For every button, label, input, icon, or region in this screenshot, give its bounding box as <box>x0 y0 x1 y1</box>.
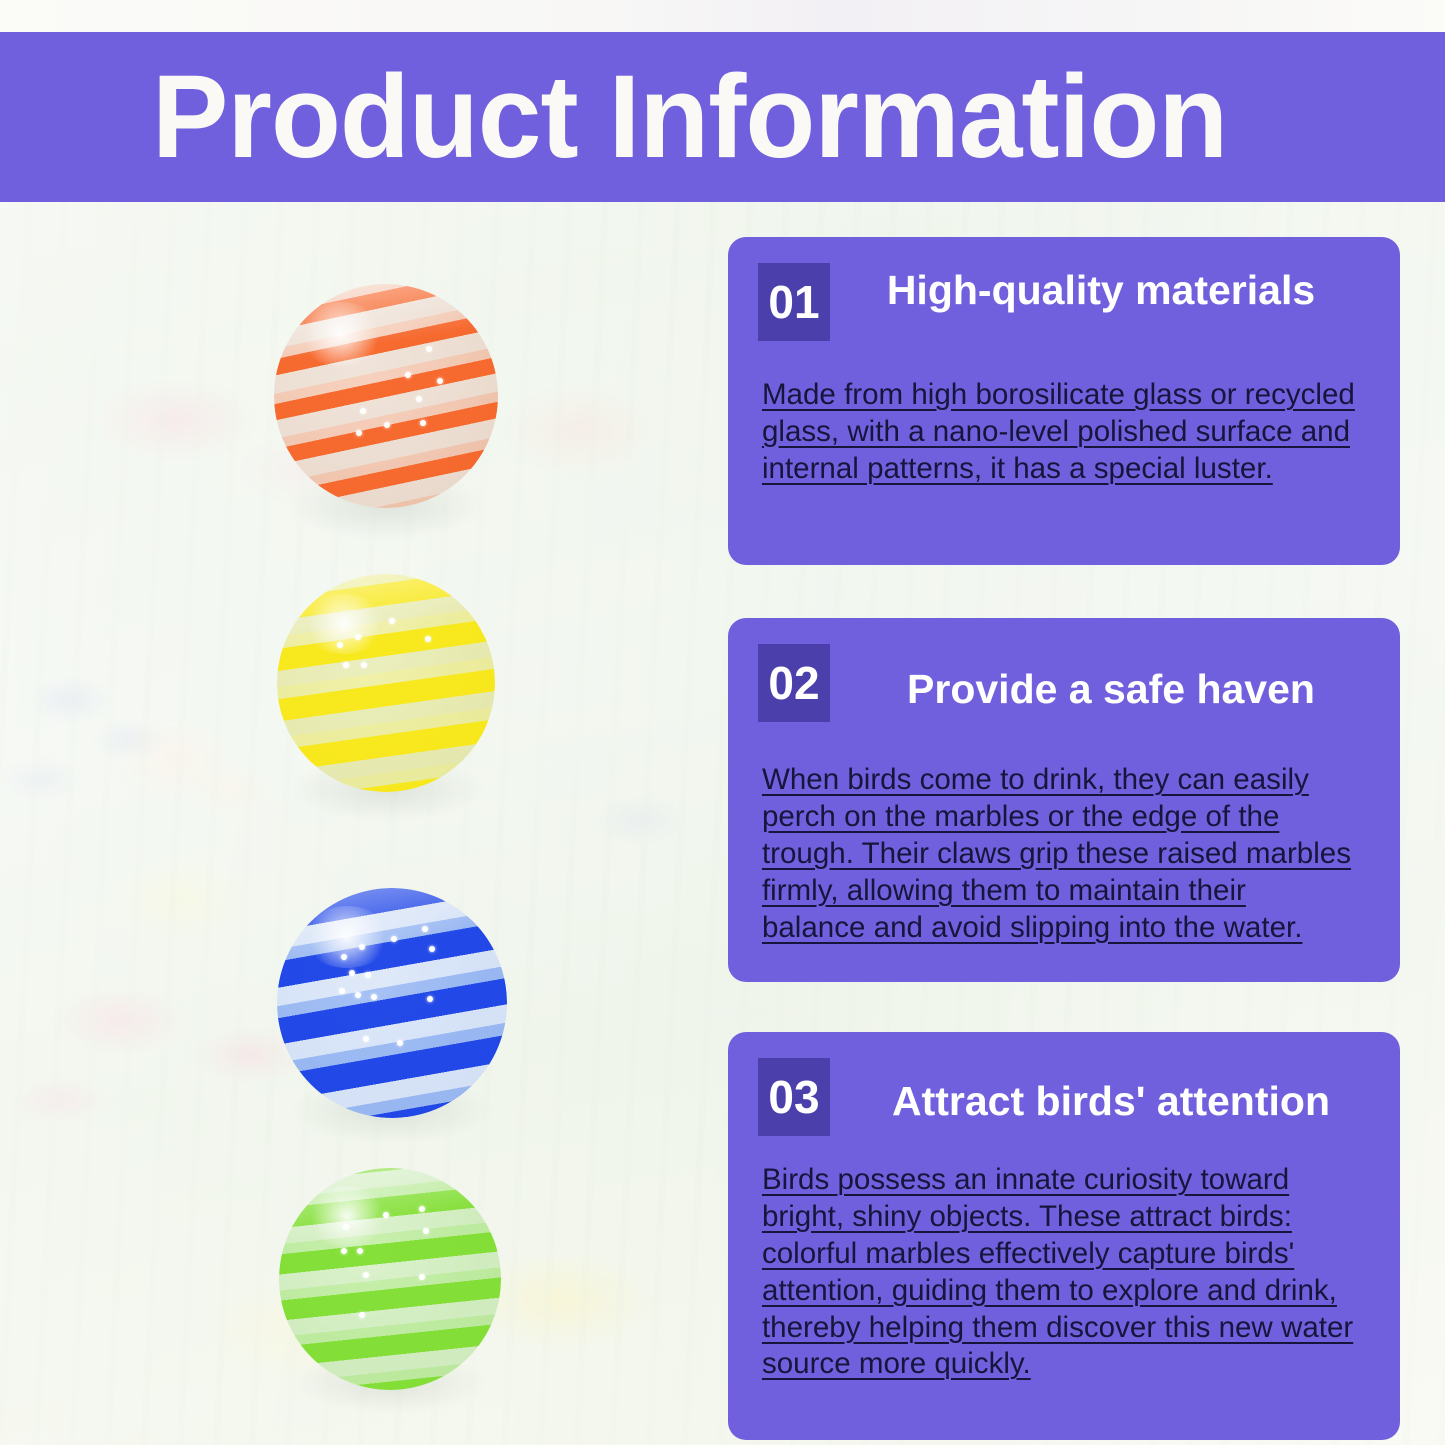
sparkle-dot <box>355 992 361 998</box>
sparkle-dot <box>356 430 362 436</box>
sparkle-dot <box>383 1212 389 1218</box>
sparkle-dot <box>423 1228 429 1234</box>
feature-number-badge-02: 02 <box>758 644 830 722</box>
feature-number-badge-03: 03 <box>758 1058 830 1136</box>
feature-number-badge-01: 01 <box>758 263 830 341</box>
sparkle-dot <box>349 970 355 976</box>
sparkle-dot <box>371 994 377 1000</box>
sparkle-dot <box>359 944 365 950</box>
green-marble <box>279 1168 501 1390</box>
sparkle-dot <box>359 1312 365 1318</box>
blue-marble <box>277 888 507 1118</box>
feature-card-02[interactable]: 02 Provide a safe haven When birds come … <box>728 618 1400 982</box>
feature-body-03: Birds possess an innate curiosity toward… <box>758 1162 1361 1383</box>
feature-title-03: Attract birds' attention <box>852 1058 1370 1126</box>
feature-card-01-head: 01 High-quality materials <box>758 263 1370 341</box>
sparkle-dot <box>427 996 433 1002</box>
sparkle-dot <box>341 1248 347 1254</box>
yellow-marble <box>277 574 495 792</box>
sparkle-dot <box>405 372 411 378</box>
top-edge-strip <box>0 0 1445 32</box>
sparkle-dot <box>397 1040 403 1046</box>
sparkle-dot <box>355 634 361 640</box>
header-band: Product Information <box>0 32 1445 202</box>
sparkle-dot <box>426 346 432 352</box>
feature-body-01: Made from high borosilicate glass or rec… <box>758 377 1361 488</box>
sparkle-dot <box>361 662 367 668</box>
feature-card-02-head: 02 Provide a safe haven <box>758 644 1370 722</box>
feature-card-03-head: 03 Attract birds' attention <box>758 1058 1370 1136</box>
sparkle-dot <box>416 396 422 402</box>
sparkle-dot <box>343 1224 349 1230</box>
sparkle-dot <box>343 662 349 668</box>
sparkle-dot <box>425 636 431 642</box>
feature-card-01[interactable]: 01 High-quality materials Made from high… <box>728 237 1400 565</box>
feature-card-03[interactable]: 03 Attract birds' attention Birds posses… <box>728 1032 1400 1440</box>
yellow-marble-highlight <box>303 594 385 654</box>
sparkle-dot <box>429 946 435 952</box>
orange-marble <box>274 284 498 508</box>
sparkle-dot <box>419 1206 425 1212</box>
page-title: Product Information <box>152 58 1227 176</box>
product-information-infographic: Product Information <box>0 0 1445 1445</box>
sparkle-dot <box>422 926 428 932</box>
orange-marble-highlight <box>298 302 384 366</box>
sparkle-dot <box>391 936 397 942</box>
sparkle-dot <box>337 642 343 648</box>
feature-title-02: Provide a safe haven <box>852 644 1370 714</box>
sparkle-dot <box>341 954 347 960</box>
sparkle-dot <box>419 1274 425 1280</box>
sparkle-dot <box>363 1272 369 1278</box>
sparkle-dot <box>363 1036 369 1042</box>
sparkle-dot <box>384 422 390 428</box>
sparkle-dot <box>437 378 443 384</box>
green-marble-highlight <box>305 1186 389 1246</box>
sparkle-dot <box>339 988 345 994</box>
feature-body-02: When birds come to drink, they can easil… <box>758 762 1361 946</box>
sparkle-dot <box>365 972 371 978</box>
sparkle-dot <box>420 420 426 426</box>
blue-marble-highlight <box>303 906 391 968</box>
sparkle-dot <box>389 618 395 624</box>
feature-title-01: High-quality materials <box>852 263 1370 315</box>
sparkle-dot <box>357 1248 363 1254</box>
sparkle-dot <box>360 408 366 414</box>
